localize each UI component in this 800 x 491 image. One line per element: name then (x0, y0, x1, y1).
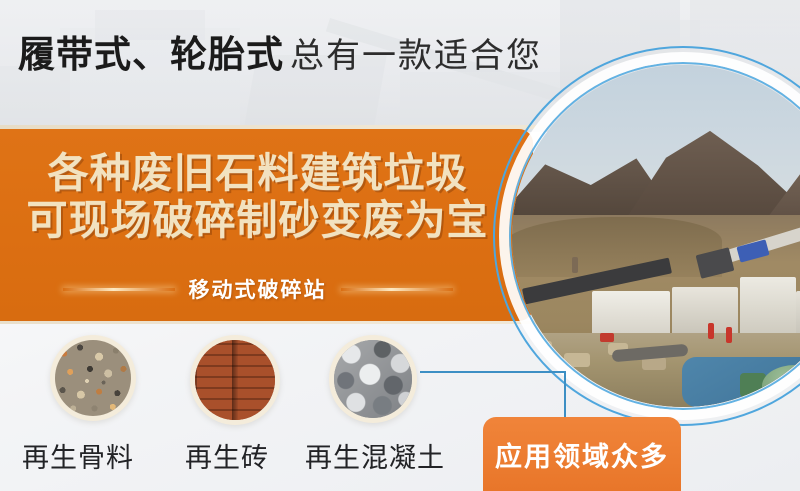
band-bottom-divider (0, 321, 540, 324)
product-photo-brick (195, 340, 275, 420)
product-photo-aggregate (55, 340, 131, 416)
product-circle-aggregate[interactable] (50, 335, 136, 421)
hero-photo-circle (493, 46, 800, 426)
glow-line-left-icon (63, 288, 175, 291)
product-circle-brick[interactable] (190, 335, 280, 425)
promo-subtitle-row: 移动式破碎站 (0, 272, 515, 306)
promo-title-line-2: 可现场破碎制砂变废为宝 (0, 197, 515, 244)
product-label-aggregate: 再生骨料 (22, 436, 134, 475)
promo-title-line-1: 各种废旧石料建筑垃圾 (0, 150, 515, 197)
product-circle-concrete[interactable] (329, 335, 417, 423)
promo-banner: 履带式、轮胎式总有一款适合您 各种废旧石料建筑垃圾 可现场破碎制砂变废为宝 移动… (0, 0, 800, 491)
promo-title: 各种废旧石料建筑垃圾 可现场破碎制砂变废为宝 (0, 150, 515, 243)
concrete-texture (334, 340, 412, 418)
gravel-texture (55, 340, 131, 416)
product-label-brick: 再生砖 (185, 436, 269, 475)
connector-line-vertical (564, 371, 566, 420)
glow-line-right-icon (341, 288, 453, 291)
brick-texture (195, 340, 275, 420)
banner-headline: 履带式、轮胎式总有一款适合您 (18, 36, 542, 73)
connector-line-horizontal (420, 371, 566, 373)
headline-strong-text: 履带式、轮胎式 (18, 34, 284, 75)
product-photo-concrete (334, 340, 412, 418)
cta-button-application-fields[interactable]: 应用领域众多 (483, 417, 681, 491)
cta-button-label: 应用领域众多 (495, 435, 669, 474)
promo-subtitle: 移动式破碎站 (189, 274, 327, 304)
headline-light-text: 总有一款适合您 (290, 37, 542, 75)
product-label-concrete: 再生混凝土 (305, 436, 445, 475)
